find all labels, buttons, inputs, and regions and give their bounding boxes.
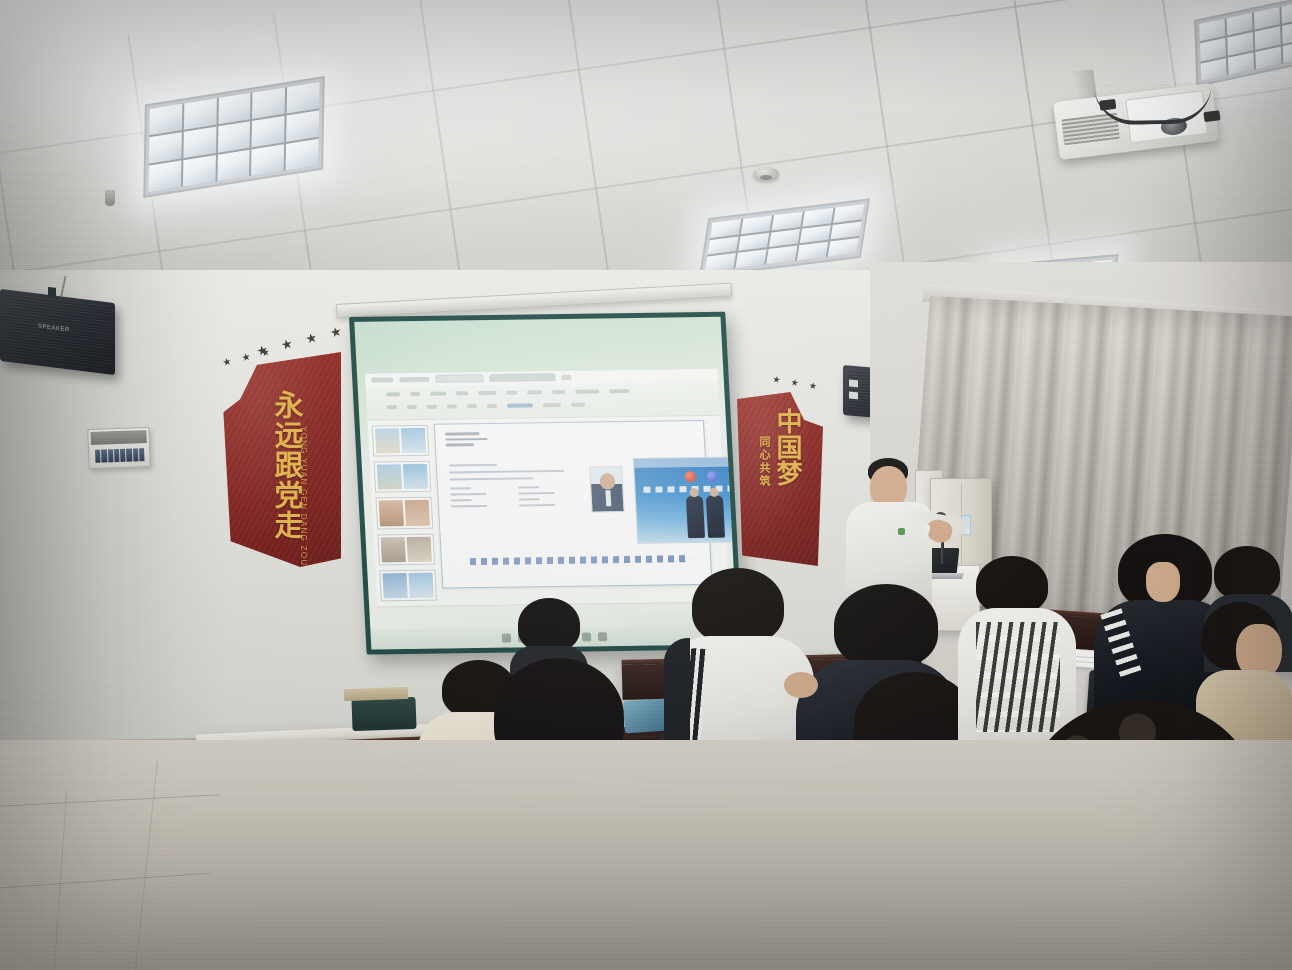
projector-cable-plug-end [1203,110,1220,122]
sprinkler-head [105,190,115,206]
jacket-shoulder-dark [664,638,690,756]
classroom-photo: SPEAKER ★ ★ ★ ★ ★ ★ ★ ★ 永远跟党走 YONG YUAN … [0,0,1292,970]
slide-thumbnail [379,569,437,601]
app-ribbon-toolbar [366,382,720,421]
banner-left-chinese: 永远跟党走 [255,390,301,540]
banner-left-pinyin: YONG YUAN GEN DANG ZOU [299,426,308,566]
slide-caption-text [470,555,691,565]
slide-thumbnail [374,461,432,493]
active-slide [434,420,713,589]
slide-thumbnail [377,533,435,565]
banner-right-chinese: 中国梦 [765,408,801,486]
smoke-detector [753,167,779,181]
award-ceremony-photo [633,456,738,544]
slide-title-lines [445,432,488,446]
banner-right-subtitle: 同心共筑 [751,436,769,488]
projector-cable-plug [1099,99,1116,111]
slide-form-block [449,463,572,512]
student-hand-raised [1146,562,1180,602]
slide-thumbnail [376,497,434,529]
presenter-logo [898,528,905,535]
portrait-id-photo [589,466,624,512]
electrical-breaker-panel [87,427,150,469]
slide-thumbnail [372,425,430,457]
floor [0,740,1292,970]
wall-speaker-left: SPEAKER [0,289,115,375]
slide-thumbnail-rail [372,425,437,602]
